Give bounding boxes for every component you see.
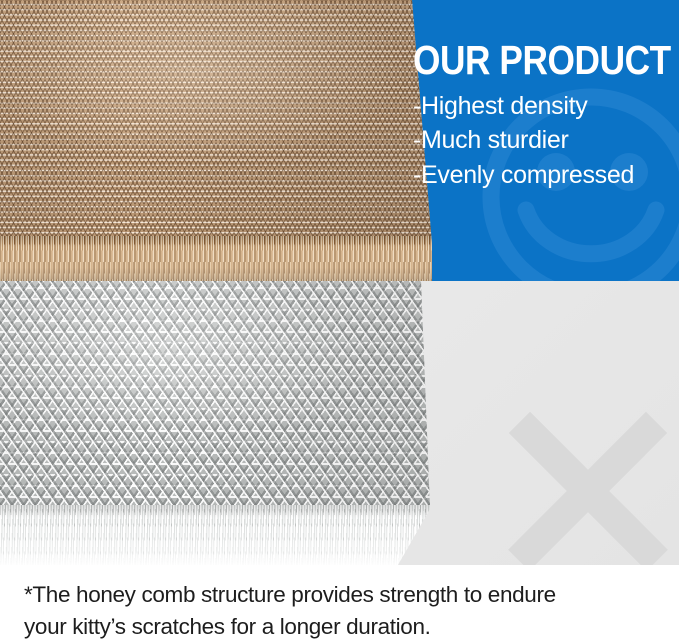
our-product-text-block: OUR PRODUCT -Highest density -Much sturd… xyxy=(413,40,675,192)
caption-line-1: *The honey comb structure provides stren… xyxy=(24,579,657,611)
our-product-bullet-2: -Much sturdier xyxy=(413,123,675,157)
grey-mat-cut-edge xyxy=(0,505,430,565)
product-comparison-infographic: OUR PRODUCT -Highest density -Much sturd… xyxy=(0,0,679,643)
our-product-bullet-3: -Evenly compressed xyxy=(413,158,675,192)
our-product-heading: OUR PRODUCT xyxy=(413,40,638,81)
our-product-photo xyxy=(0,0,432,281)
cardboard-honeycomb-surface xyxy=(0,0,432,238)
others-product-photo xyxy=(0,281,430,565)
grey-honeycomb-surface xyxy=(0,281,430,509)
our-product-bullet-1: -Highest density xyxy=(413,89,675,123)
caption-line-2: your kitty’s scratches for a longer dura… xyxy=(24,611,657,643)
others-panel: OTHERS -Large grooves -Light weight -Low… xyxy=(0,281,679,565)
footnote-caption: *The honey comb structure provides stren… xyxy=(0,565,679,643)
x-cross-icon xyxy=(503,404,673,565)
our-product-panel: OUR PRODUCT -Highest density -Much sturd… xyxy=(0,0,679,281)
our-product-bullet-list: -Highest density -Much sturdier -Evenly … xyxy=(413,89,675,192)
cardboard-cut-edge xyxy=(0,236,432,281)
